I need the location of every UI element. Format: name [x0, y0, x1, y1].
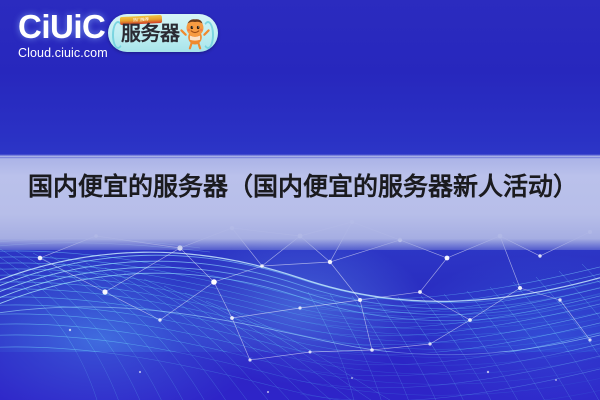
- badge-label: 服务器: [121, 22, 180, 44]
- brand-wordmark: CiUiC: [18, 10, 108, 43]
- server-badge[interactable]: 热门推荐 服务器: [108, 14, 218, 52]
- page-title: 国内便宜的服务器（国内便宜的服务器新人活动）: [28, 170, 580, 204]
- cover-image: CiUiC Cloud.ciuic.com 热门推荐 服务器: [0, 0, 600, 400]
- brand-domain: Cloud.ciuic.com: [18, 47, 108, 60]
- brand-logo[interactable]: CiUiC Cloud.ciuic.com: [18, 10, 108, 60]
- orange-mascot-icon: [178, 16, 212, 50]
